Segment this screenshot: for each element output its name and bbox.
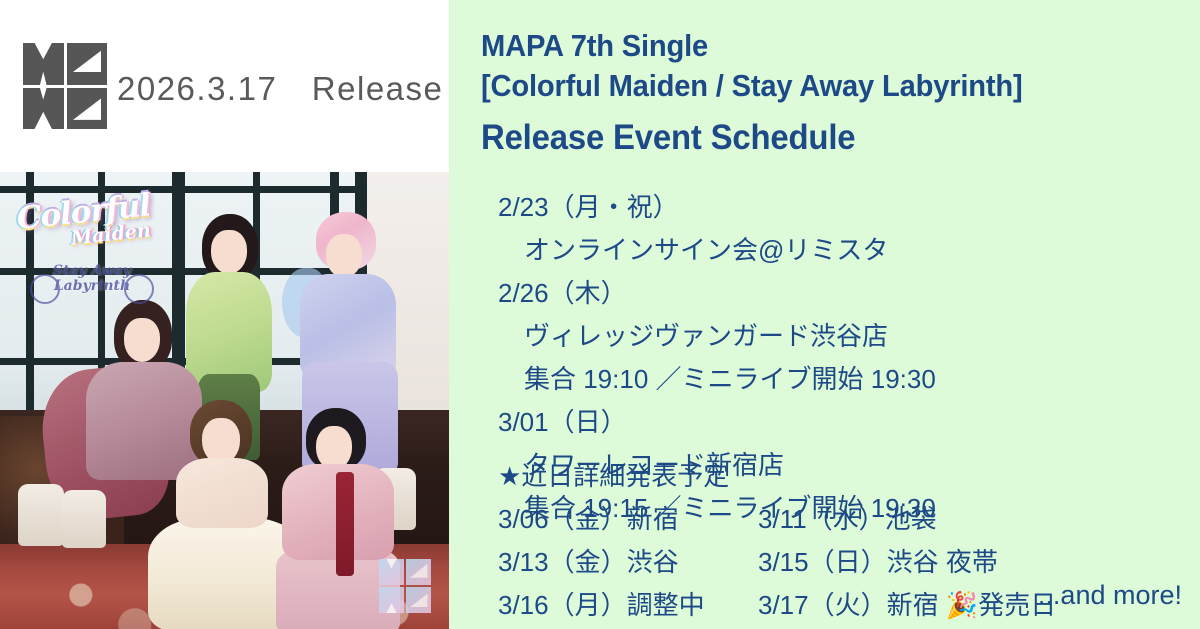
mapa-watermark-icon — [379, 559, 431, 613]
right-panel: MAPA 7th Single [Colorful Maiden / Stay … — [449, 0, 1200, 629]
upcoming-date-left: 3/13（金）渋谷 — [498, 541, 758, 584]
platform-boot — [18, 484, 64, 546]
release-date-text: 2026.3.17 Release — [117, 62, 443, 110]
upcoming-date-right: 3/15（日）渋谷 夜帯 — [758, 541, 1188, 584]
subheading: Release Event Schedule — [481, 116, 855, 160]
window-mullion — [0, 186, 365, 193]
schedule-row: 集合 19:10 ／ミニライブ開始 19:30 — [498, 358, 1188, 401]
and-more-text: ...and more! — [1038, 580, 1182, 611]
mapa-logo-icon — [23, 43, 107, 129]
upcoming-date-right: 3/11（水）池袋 — [758, 498, 1188, 541]
upcoming-date-left: 3/16（月）調整中 — [498, 584, 758, 627]
schedule-row: 2/26（木） — [498, 272, 1188, 315]
brand-bar: 2026.3.17 Release — [0, 0, 449, 172]
schedule-row: 3/01（日） — [498, 401, 1188, 444]
platform-boot — [62, 490, 106, 548]
headline: MAPA 7th Single [Colorful Maiden / Stay … — [481, 26, 1139, 106]
upcoming-date-left: 3/06（金）新宿 — [498, 498, 758, 541]
upcoming-row: 3/13（金）渋谷3/15（日）渋谷 夜帯 — [498, 541, 1188, 584]
upcoming-heading: ★近日詳細発表予定 — [498, 455, 1188, 498]
artwork-subtitle: Stay Away Labyrinth — [53, 263, 131, 294]
schedule-row: 2/23（月・祝） — [498, 186, 1188, 229]
upcoming-row: 3/06（金）新宿3/11（水）池袋 — [498, 498, 1188, 541]
left-panel: 2026.3.17 Release — [0, 0, 449, 629]
release-schedule-poster: 2026.3.17 Release — [0, 0, 1200, 629]
stay-away-labyrinth-artwork-logo: Stay Away Labyrinth — [30, 264, 154, 334]
schedule-row: ヴィレッジヴァンガード渋谷店 — [498, 315, 1188, 358]
headline-line-2: [Colorful Maiden / Stay Away Labyrinth] — [481, 66, 1139, 106]
schedule-row: オンラインサイン会@リミスタ — [498, 229, 1188, 272]
group-photo: Colorful Maiden Stay Away Labyrinth — [0, 172, 449, 629]
headline-line-1: MAPA 7th Single — [481, 26, 1139, 66]
